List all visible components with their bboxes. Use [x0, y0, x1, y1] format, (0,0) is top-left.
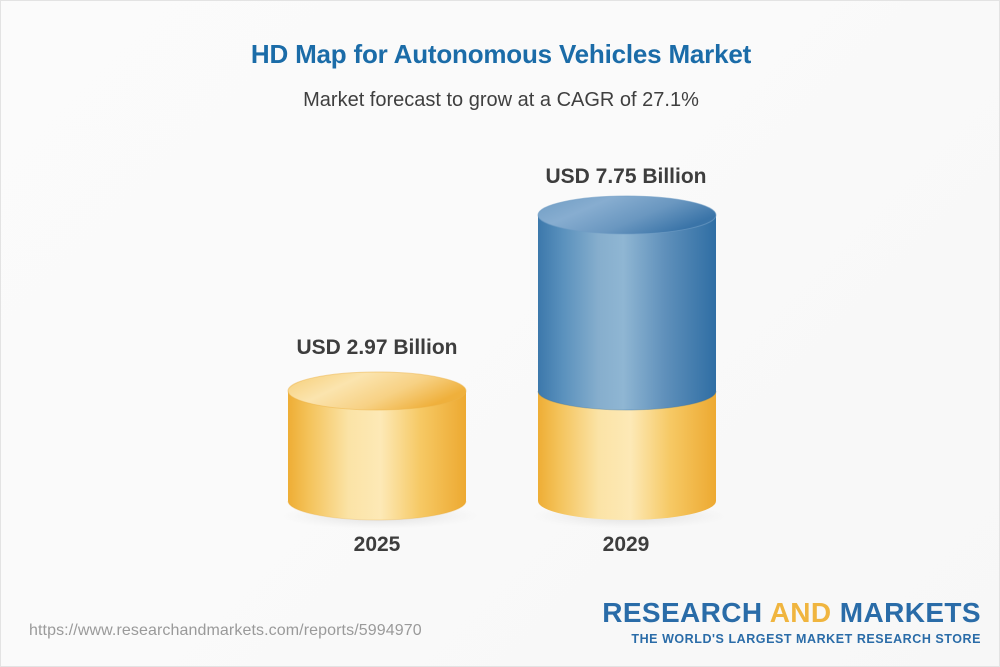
logo-wordmark: RESEARCH AND MARKETS: [602, 599, 981, 627]
logo-tagline: THE WORLD'S LARGEST MARKET RESEARCH STOR…: [602, 632, 981, 646]
chart-page: HD Map for Autonomous Vehicles Market Ma…: [0, 0, 1000, 667]
category-label-2029: 2029: [526, 533, 726, 557]
cylinder-2025[interactable]: [273, 371, 481, 531]
research-and-markets-logo[interactable]: RESEARCH AND MARKETS THE WORLD'S LARGEST…: [602, 599, 981, 646]
cylinder-2029[interactable]: [523, 193, 731, 531]
plot-area: USD 2.97 Billion: [1, 1, 1000, 601]
value-label-2029: USD 7.75 Billion: [526, 165, 726, 189]
source-url[interactable]: https://www.researchandmarkets.com/repor…: [29, 622, 422, 640]
cylinder-growth-segment-2029: [538, 215, 716, 410]
category-label-2025: 2025: [277, 533, 477, 557]
value-label-2025: USD 2.97 Billion: [277, 336, 477, 360]
logo-word-markets: MARKETS: [840, 597, 981, 628]
logo-word-and: AND: [770, 597, 832, 628]
logo-word-research: RESEARCH: [602, 597, 762, 628]
